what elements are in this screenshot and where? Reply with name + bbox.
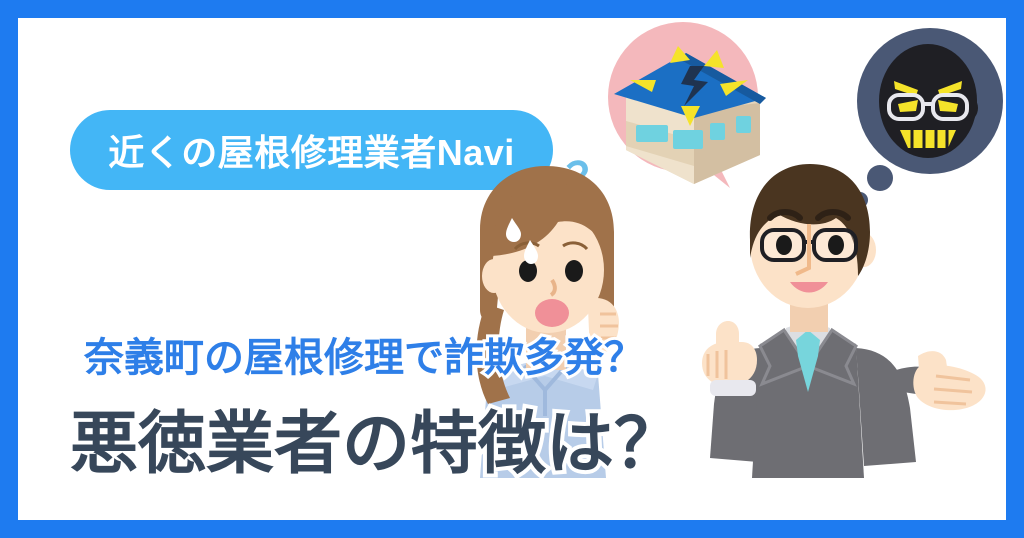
poster-canvas: 近くの屋根修理業者Navi ？ 奈義町の屋根修理で詐欺多発？ 悪徳業者の特徴は？	[18, 18, 1006, 520]
pointing-up-hand-icon	[702, 321, 757, 396]
damaged-house-speech-bubble	[608, 22, 766, 188]
poster-frame: 近くの屋根修理業者Navi ？ 奈義町の屋根修理で詐欺多発？ 悪徳業者の特徴は？	[0, 0, 1024, 538]
presenting-businessman	[702, 164, 986, 478]
shady-contractor-thought-bubble	[852, 28, 1003, 208]
page-title: 悪徳業者の特徴は？	[70, 388, 682, 487]
subtitle-text: 奈義町の屋根修理で詐欺多発？	[84, 325, 644, 383]
open-palm-hand-icon	[913, 351, 985, 410]
